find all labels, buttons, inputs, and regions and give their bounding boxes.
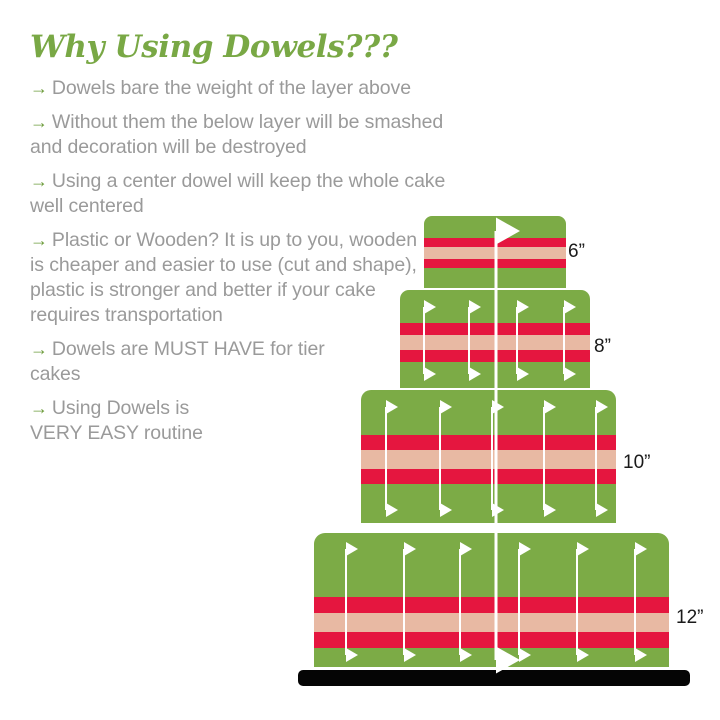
tier-size-label-10in: 10”: [623, 452, 650, 474]
list-item-label: Dowels are MUST HAVE for tier cakes: [30, 338, 325, 385]
list-item-label: Using Dowels is VERY EASY routine: [30, 397, 203, 444]
arrow-icon: →: [30, 171, 52, 191]
list-item-label: Plastic or Wooden? It is up to you, wood…: [30, 229, 417, 326]
text-column: Why Using Dowels??? →Dowels bare the wei…: [30, 30, 450, 455]
tier-stripe-red-bottom: [314, 632, 669, 648]
arrow-icon: →: [30, 112, 52, 132]
arrow-icon: →: [30, 78, 52, 98]
list-item-label: Using a center dowel will keep the whole…: [30, 170, 445, 217]
tier-stripe-red-bottom: [361, 469, 616, 484]
list-item-label: Dowels bare the weight of the layer abov…: [52, 77, 411, 99]
tier-stripe-pink: [314, 613, 669, 632]
list-item: →Using Dowels is VERY EASY routine: [30, 396, 230, 446]
tier-size-label-12in: 12”: [676, 607, 703, 629]
cake-board: [298, 670, 690, 686]
list-item: →Using a center dowel will keep the whol…: [30, 169, 450, 219]
page-title: Why Using Dowels???: [30, 30, 450, 64]
arrow-icon: →: [30, 398, 52, 418]
list-item: →Plastic or Wooden? It is up to you, woo…: [30, 228, 420, 328]
list-item: →Without them the below layer will be sm…: [30, 110, 450, 160]
list-item: →Dowels are MUST HAVE for tier cakes: [30, 337, 350, 387]
list-item: →Dowels bare the weight of the layer abo…: [30, 76, 450, 101]
infographic-page: Why Using Dowels??? →Dowels bare the wei…: [0, 0, 720, 720]
list-item-label: Without them the below layer will be sma…: [30, 111, 443, 158]
arrow-icon: →: [30, 230, 52, 250]
cake-tier-12in: [314, 533, 669, 667]
tier-size-label-8in: 8”: [594, 336, 611, 358]
tier-size-label-6in: 6”: [568, 241, 585, 263]
tier-stripe-red-top: [314, 597, 669, 613]
arrow-icon: →: [30, 339, 52, 359]
